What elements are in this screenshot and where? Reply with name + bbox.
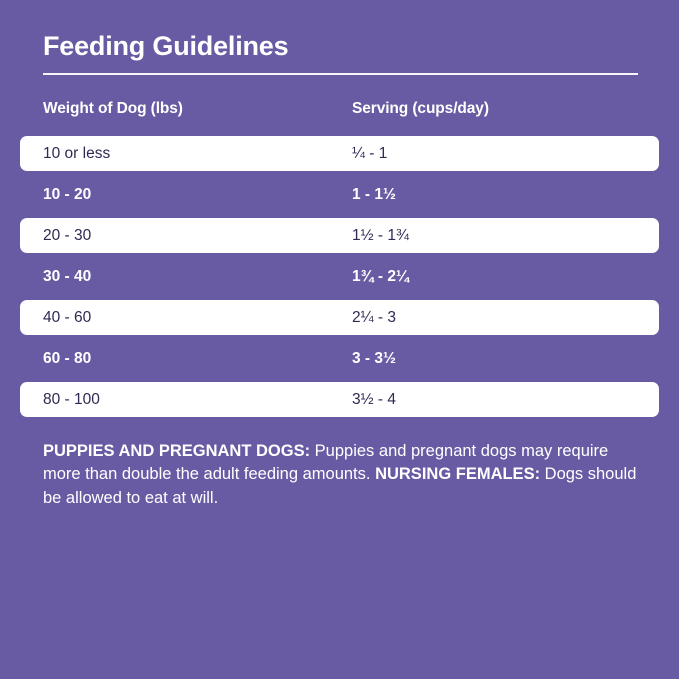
cell-weight: 80 - 100 bbox=[43, 391, 100, 409]
cell-serving: 3½ - 4 bbox=[352, 391, 396, 409]
table-row: 80 - 100 3½ - 4 bbox=[20, 382, 659, 417]
footnote-lead-nursing: NURSING FEMALES: bbox=[375, 465, 540, 483]
table-row: 40 - 60 2¼ - 3 bbox=[20, 300, 659, 335]
column-header-serving: Serving (cups/day) bbox=[352, 100, 489, 118]
cell-serving: 2¼ - 3 bbox=[352, 309, 396, 327]
table-row: 20 - 30 1½ - 1¾ bbox=[20, 218, 659, 253]
title-divider bbox=[43, 73, 638, 75]
page-title: Feeding Guidelines bbox=[43, 32, 288, 62]
cell-weight: 60 - 80 bbox=[43, 350, 91, 368]
feeding-table: 10 or less ¼ - 1 10 - 20 1 - 1½ 20 - 30 … bbox=[0, 136, 679, 423]
table-row: 60 - 80 3 - 3½ bbox=[20, 341, 659, 376]
feeding-guidelines-panel: Feeding Guidelines Weight of Dog (lbs) S… bbox=[0, 0, 679, 679]
table-row: 10 - 20 1 - 1½ bbox=[20, 177, 659, 212]
cell-serving: 1 - 1½ bbox=[352, 186, 396, 204]
cell-weight: 20 - 30 bbox=[43, 227, 91, 245]
cell-weight: 10 - 20 bbox=[43, 186, 91, 204]
cell-weight: 10 or less bbox=[43, 145, 110, 163]
cell-serving: 1¾ - 2¼ bbox=[352, 268, 409, 286]
table-row: 10 or less ¼ - 1 bbox=[20, 136, 659, 171]
table-column-headers: Weight of Dog (lbs) Serving (cups/day) bbox=[0, 100, 679, 124]
column-header-weight: Weight of Dog (lbs) bbox=[43, 100, 183, 118]
cell-serving: ¼ - 1 bbox=[352, 145, 387, 163]
cell-weight: 30 - 40 bbox=[43, 268, 91, 286]
footnote-lead-puppies: PUPPIES AND PREGNANT DOGS: bbox=[43, 442, 310, 460]
cell-weight: 40 - 60 bbox=[43, 309, 91, 327]
cell-serving: 3 - 3½ bbox=[352, 350, 396, 368]
feeding-footnote: PUPPIES AND PREGNANT DOGS: Puppies and p… bbox=[43, 440, 643, 510]
cell-serving: 1½ - 1¾ bbox=[352, 227, 409, 245]
table-row: 30 - 40 1¾ - 2¼ bbox=[20, 259, 659, 294]
